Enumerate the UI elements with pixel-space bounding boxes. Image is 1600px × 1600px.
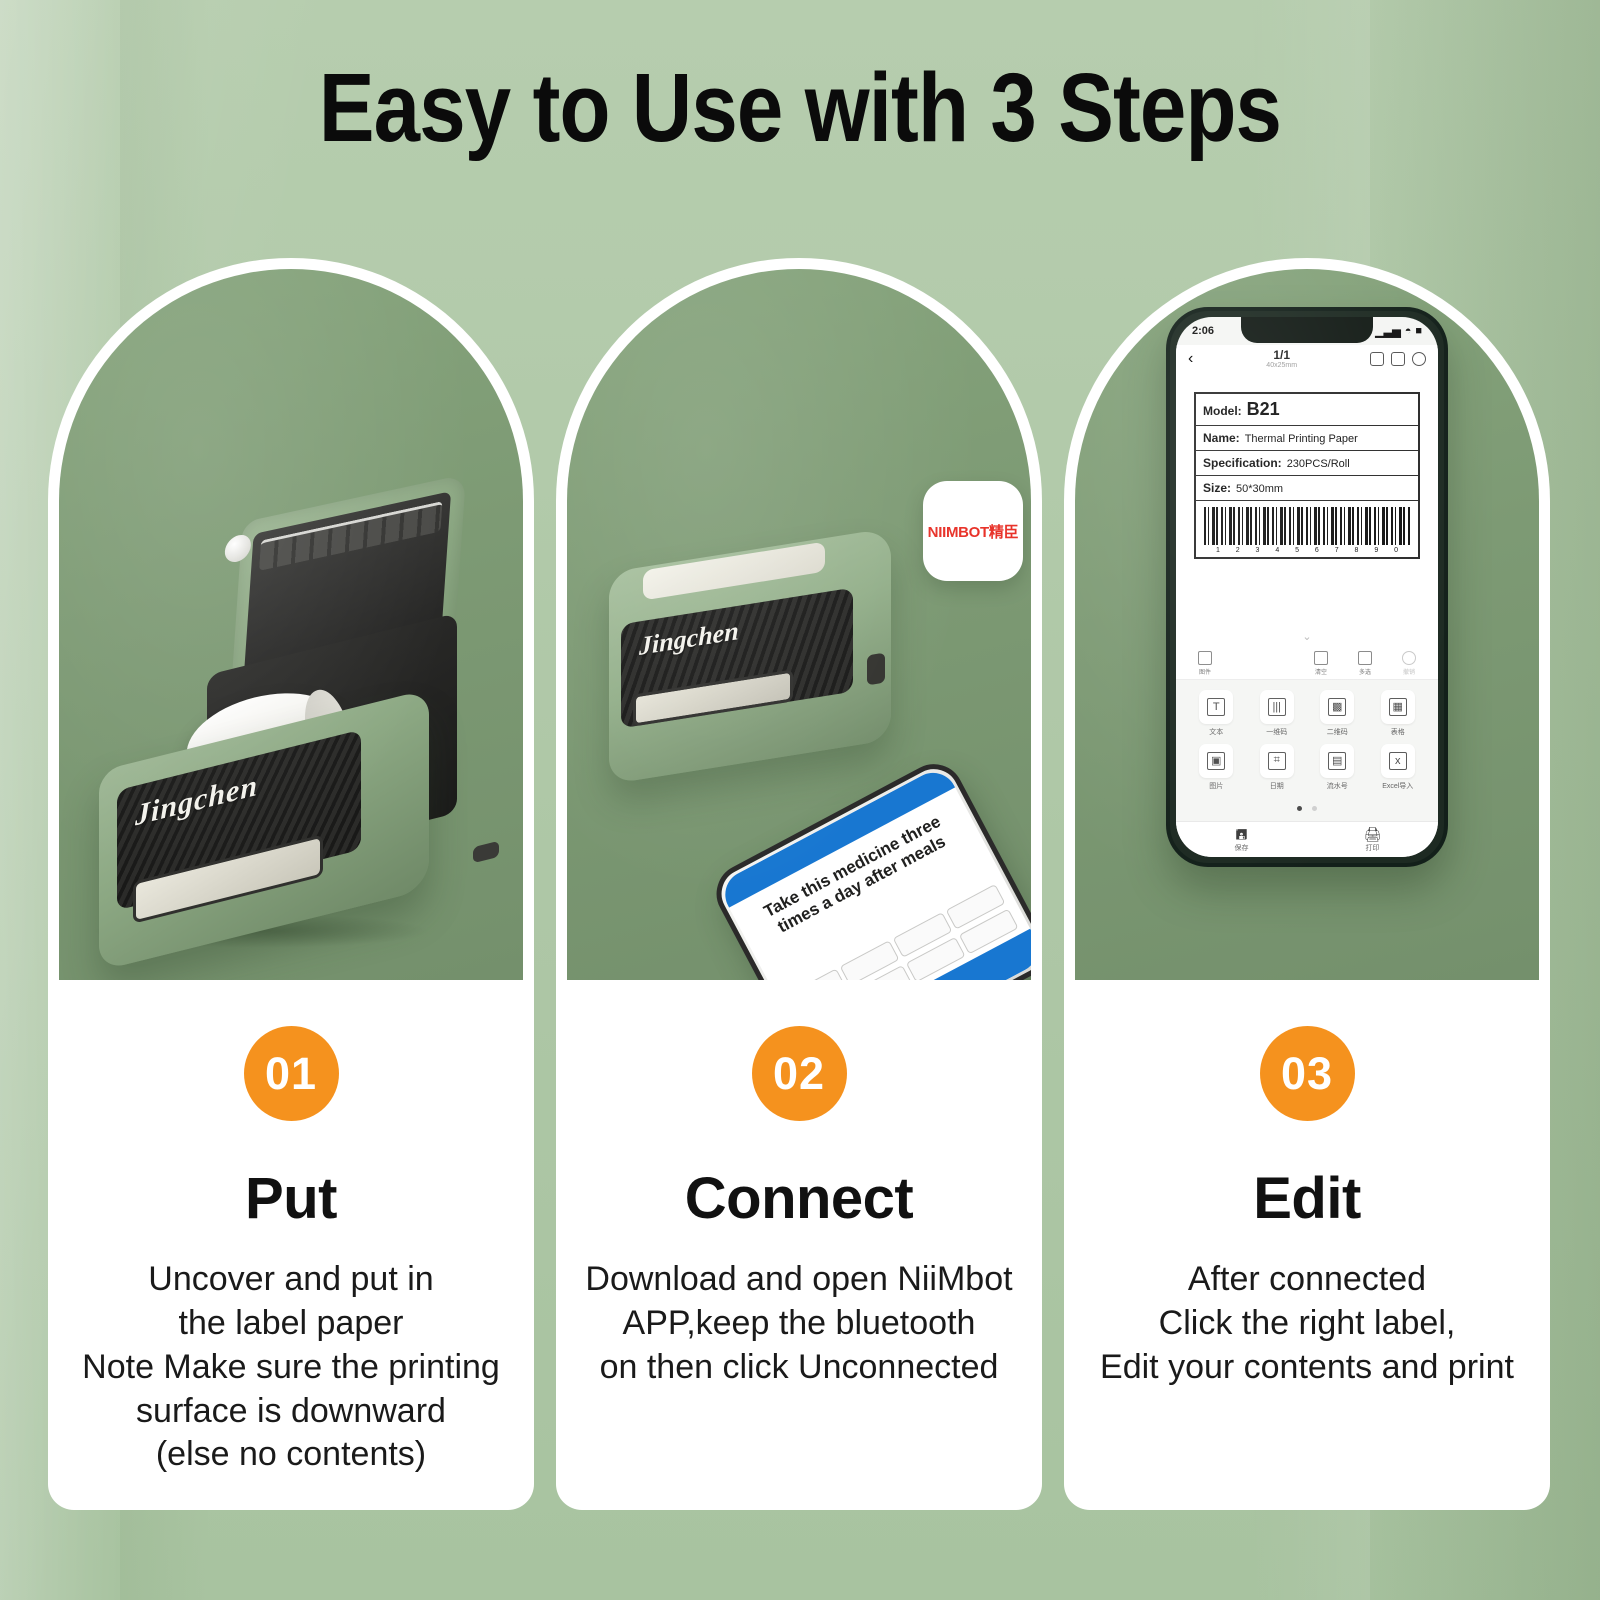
print-icon: 🖨 — [1307, 827, 1438, 841]
barcode-digit: 1 — [1216, 547, 1220, 554]
tool-label: 日期 — [1247, 781, 1308, 791]
step-description: Uncover and put in the label paper Note … — [66, 1258, 516, 1477]
phone-notch — [1241, 317, 1373, 343]
barcode-digit: 5 — [1295, 547, 1299, 554]
editor-tool-strip: 图件 清空 多选 — [1176, 647, 1438, 680]
label-row-key: Name: — [1203, 431, 1240, 445]
app-tool-cell[interactable] — [787, 968, 847, 980]
tool-label: 二维码 — [1307, 727, 1368, 737]
label-row-key: Size: — [1203, 481, 1231, 495]
excel-import-icon: x — [1389, 752, 1407, 770]
tool-serial-number[interactable]: ▤ 流水号 — [1307, 744, 1368, 791]
app-tool-cell[interactable] — [906, 937, 966, 980]
barcode-digit: 9 — [1374, 547, 1378, 554]
page-indicator: 1/1 — [1266, 349, 1297, 362]
barcode-digit: 3 — [1256, 547, 1260, 554]
editor-tool-grid: T 文本 ||| 一维码 ▩ 二维码 — [1176, 680, 1438, 795]
printer-front-grille — [117, 730, 361, 911]
barcode-digit: 0 — [1394, 547, 1398, 554]
app-icon-label: NIIMBOT精臣 — [928, 521, 1019, 542]
label-barcode-row: 1 2 3 4 5 6 7 8 9 0 — [1196, 501, 1418, 557]
label-row: Size: 50*30mm — [1196, 476, 1418, 501]
editor-nav-bar: ‹ 1/1 40x25mm — [1176, 345, 1438, 378]
battery-icon: ■ — [1415, 325, 1422, 337]
app-bottom-bar — [804, 929, 1031, 980]
printer-output-tray — [633, 669, 793, 726]
tool-label: 文本 — [1186, 727, 1247, 737]
components-label: 图件 — [1188, 667, 1222, 676]
image-icon: ▣ — [1207, 752, 1225, 770]
step-02-text-panel: 02 Connect Download and open NiiMbot APP… — [556, 980, 1042, 1510]
printer-open-illustration: Jingchen — [87, 484, 517, 954]
step-01-image-panel: Jingchen — [48, 258, 534, 980]
printer-body-closed — [609, 528, 891, 785]
step-number-badge: 02 — [752, 1026, 847, 1121]
status-time: 2:06 — [1192, 325, 1214, 337]
step-number-badge: 01 — [244, 1026, 339, 1121]
table-icon: ▦ — [1389, 698, 1407, 716]
barcode-digit: 7 — [1335, 547, 1339, 554]
collapse-chevron-icon[interactable]: ⌄ — [1176, 628, 1438, 647]
label-row: Name: Thermal Printing Paper — [1196, 426, 1418, 451]
step-title: Put — [66, 1165, 516, 1232]
step-card-01: Jingchen 01 Put Uncover and put in the l… — [48, 258, 534, 1510]
printer-roller — [259, 501, 443, 571]
barcode-digit: 8 — [1355, 547, 1359, 554]
step-title: Edit — [1082, 1165, 1532, 1232]
step-title: Connect — [574, 1165, 1024, 1232]
tool-strip-right: 清空 多选 撤销 — [1304, 651, 1426, 676]
step-card-02: NIIMBOT精臣 Jingchen Take this medicine th… — [556, 258, 1042, 1510]
rotate-icon[interactable] — [1391, 352, 1405, 366]
text-icon: T — [1207, 698, 1225, 716]
components-icon — [1198, 651, 1212, 665]
tool-label: 图片 — [1186, 781, 1247, 791]
app-tool-cell[interactable] — [840, 940, 900, 980]
phone-screen: 2:06 ▁▃▅ ◓ ■ ‹ 1/1 40x25mm — [1176, 317, 1438, 857]
hide-grid-icon[interactable] — [1370, 352, 1384, 366]
barcode-digit: 6 — [1315, 547, 1319, 554]
app-tool-grid — [787, 884, 1019, 980]
nav-icon-group — [1370, 352, 1426, 366]
save-icon: 🖪 — [1176, 827, 1307, 841]
save-label: 保存 — [1176, 843, 1307, 853]
eraser-icon — [1314, 651, 1328, 665]
step-description: Download and open NiiMbot APP,keep the b… — [574, 1258, 1024, 1390]
step-description: After connected Click the right label, E… — [1082, 1258, 1532, 1390]
qrcode-icon: ▩ — [1328, 698, 1346, 716]
app-tool-cell[interactable] — [853, 965, 913, 980]
clear-button[interactable]: 清空 — [1304, 651, 1338, 676]
barcode-icon — [1204, 507, 1410, 545]
niimbot-app-icon[interactable]: NIIMBOT精臣 — [923, 481, 1023, 581]
tool-barcode[interactable]: ||| 一维码 — [1247, 690, 1308, 737]
printer-closed-illustration: Jingchen Take this medicine three times … — [581, 526, 1031, 956]
printer-side-button — [867, 653, 885, 686]
tool-label: 一维码 — [1247, 727, 1308, 737]
date-icon: ⌗ — [1268, 752, 1286, 770]
printer-paper-cavity — [207, 613, 457, 875]
back-icon[interactable]: ‹ — [1188, 350, 1193, 368]
serial-number-icon: ▤ — [1328, 752, 1346, 770]
step-02-photo: NIIMBOT精臣 Jingchen Take this medicine th… — [567, 269, 1031, 980]
tool-label: 表格 — [1368, 727, 1429, 737]
step-01-photo: Jingchen — [59, 269, 523, 980]
label-row: Specification: 230PCS/Roll — [1196, 451, 1418, 476]
printer-output-tray — [133, 834, 323, 923]
barcode-digits: 1 2 3 4 5 6 7 8 9 0 — [1204, 547, 1410, 554]
label-row: Model: B21 — [1196, 394, 1418, 426]
printer-brand-wordmark: Jingchen — [639, 616, 739, 662]
undo-label: 撤销 — [1392, 667, 1426, 676]
step-03-image-panel: 2:06 ▁▃▅ ◓ ■ ‹ 1/1 40x25mm — [1064, 258, 1550, 980]
phone-editor-device: 2:06 ▁▃▅ ◓ ■ ‹ 1/1 40x25mm — [1166, 307, 1448, 867]
print-label: 打印 — [1307, 843, 1438, 853]
step-card-03: 2:06 ▁▃▅ ◓ ■ ‹ 1/1 40x25mm — [1064, 258, 1550, 1510]
wifi-icon: ◓ — [1405, 325, 1412, 337]
label-row-value: Thermal Printing Paper — [1245, 433, 1358, 445]
barcode-icon: ||| — [1268, 698, 1286, 716]
components-button[interactable]: 图件 — [1188, 651, 1222, 676]
app-tool-cell[interactable] — [946, 884, 1006, 930]
multiselect-icon — [1358, 651, 1372, 665]
steps-container: Jingchen 01 Put Uncover and put in the l… — [48, 258, 1552, 1510]
pager-dot[interactable] — [1312, 806, 1317, 811]
printer-front-grille — [621, 588, 853, 729]
step-03-text-panel: 03 Edit After connected Click the right … — [1064, 980, 1550, 1510]
tool-label: Excel导入 — [1368, 781, 1429, 791]
phone-screen: Take this medicine three times a day aft… — [717, 764, 1031, 980]
label-row-value: 230PCS/Roll — [1287, 458, 1350, 470]
phone-with-app: Take this medicine three times a day aft… — [706, 754, 1031, 980]
app-tool-cell[interactable] — [893, 912, 953, 958]
label-canvas[interactable]: Model: B21 Name: Thermal Printing Paper … — [1176, 378, 1438, 628]
printer-lid-interior — [243, 491, 451, 686]
tool-pager — [1176, 795, 1438, 821]
printer-shadow — [91, 914, 431, 948]
save-button[interactable]: 🖪 保存 — [1176, 827, 1307, 853]
printer-brand-wordmark: Jingchen — [135, 769, 258, 834]
editor-bottom-bar: 🖪 保存 🖨 打印 — [1176, 821, 1438, 857]
printer-top-slot — [643, 542, 825, 601]
step-01-text-panel: 01 Put Uncover and put in the label pape… — [48, 980, 534, 1510]
tool-text[interactable]: T 文本 — [1186, 690, 1247, 737]
tool-excel-import[interactable]: x Excel导入 — [1368, 744, 1429, 791]
step-03-photo: 2:06 ▁▃▅ ◓ ■ ‹ 1/1 40x25mm — [1075, 269, 1539, 980]
label-row-key: Model: — [1203, 404, 1242, 418]
label-preview[interactable]: Model: B21 Name: Thermal Printing Paper … — [1194, 392, 1420, 559]
barcode-digit: 4 — [1275, 547, 1279, 554]
cellular-signal-icon: ▁▃▅ — [1375, 325, 1400, 338]
status-indicators: ▁▃▅ ◓ ■ — [1375, 325, 1422, 338]
step-number-badge: 03 — [1260, 1026, 1355, 1121]
page-indicator-group: 1/1 40x25mm — [1266, 349, 1297, 370]
label-row-value: B21 — [1247, 399, 1280, 420]
tool-image[interactable]: ▣ 图片 — [1186, 744, 1247, 791]
clear-label: 清空 — [1304, 667, 1338, 676]
print-button[interactable]: 🖨 打印 — [1307, 827, 1438, 853]
page-title: Easy to Use with 3 Steps — [112, 52, 1488, 164]
printer-knob — [224, 532, 252, 564]
label-row-key: Specification: — [1203, 456, 1282, 470]
printer-side-button — [473, 841, 499, 863]
tool-qrcode[interactable]: ▩ 二维码 — [1307, 690, 1368, 737]
phone-body: Take this medicine three times a day aft… — [706, 754, 1031, 980]
barcode-digit: 2 — [1236, 547, 1240, 554]
tool-date[interactable]: ⌗ 日期 — [1247, 744, 1308, 791]
pager-dot-active[interactable] — [1297, 806, 1302, 811]
label-row-value: 50*30mm — [1236, 483, 1283, 495]
app-top-bar — [717, 764, 955, 907]
app-tool-cell[interactable] — [959, 909, 1019, 955]
label-paper-roll — [177, 678, 357, 818]
printer-body — [99, 689, 429, 971]
settings-gear-icon[interactable] — [1412, 352, 1426, 366]
tool-table[interactable]: ▦ 表格 — [1368, 690, 1429, 737]
undo-icon — [1402, 651, 1416, 665]
status-bar: 2:06 ▁▃▅ ◓ ■ — [1176, 317, 1438, 345]
undo-button[interactable]: 撤销 — [1392, 651, 1426, 676]
label-size-text: 40x25mm — [1266, 362, 1297, 370]
phone-label-preview: Take this medicine three times a day aft… — [747, 805, 967, 947]
multiselect-button[interactable]: 多选 — [1348, 651, 1382, 676]
step-02-image-panel: NIIMBOT精臣 Jingchen Take this medicine th… — [556, 258, 1042, 980]
multiselect-label: 多选 — [1348, 667, 1382, 676]
tool-label: 流水号 — [1307, 781, 1368, 791]
printer-lid — [228, 474, 466, 736]
